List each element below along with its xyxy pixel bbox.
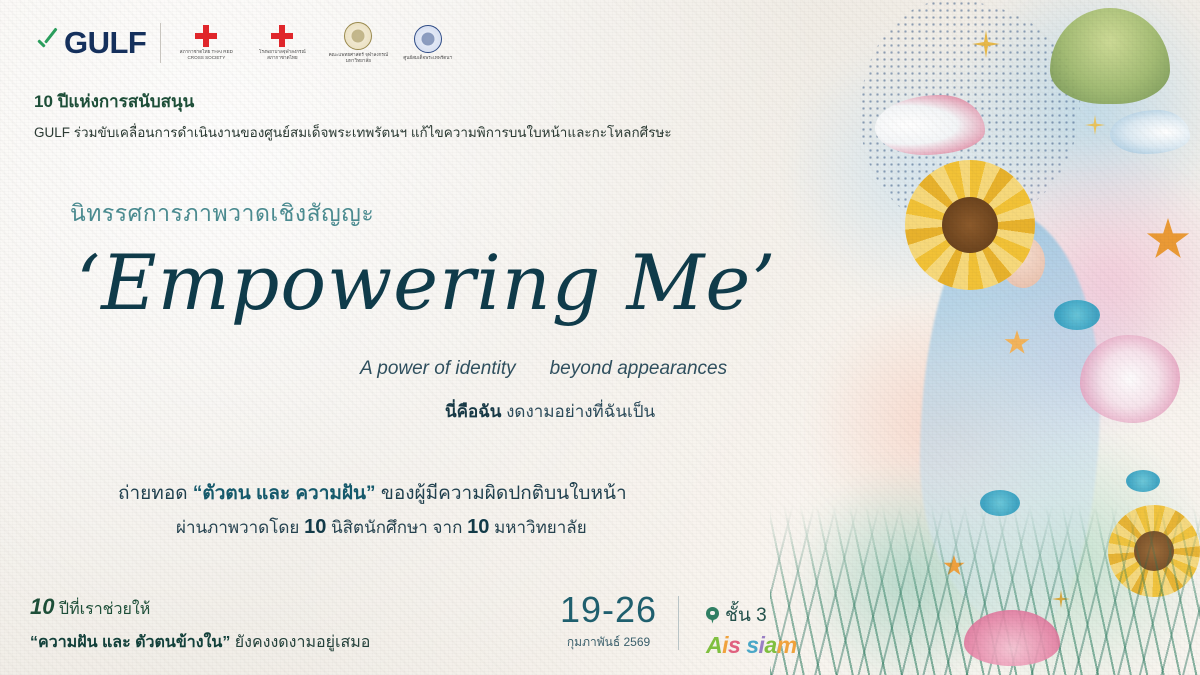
gulf-logo: GULF (34, 27, 146, 58)
event-date-block: 19-26 กุมภาพันธ์ 2569 (560, 592, 657, 652)
exhibition-label: นิทรรศการภาพวาดเชิงสัญญะ (70, 196, 374, 232)
header-block: 10 ปีแห่งการสนับสนุน GULF ร่วมขับเคลื่อน… (34, 88, 672, 143)
location-pin-icon (706, 607, 719, 624)
venue-letter: A (706, 632, 722, 658)
desc1-post: ของผู้มีความผิดปกติบนใบหน้า (376, 483, 627, 504)
footer-quote: “ความฝัน และ ตัวตนข้างใน” (30, 634, 230, 651)
partner-logo-princess-center: ศูนย์สมเด็จพระเทพรัตนฯ (403, 25, 452, 61)
venue-floor-row: ชั้น 3 (706, 600, 797, 630)
venue-letter: s (746, 632, 758, 658)
partner-caption: คณะแพทยศาสตร์ จุฬาลงกรณ์มหาวิทยาลัย (327, 52, 389, 63)
partner-logo-faculty-of-medicine: คณะแพทยศาสตร์ จุฬาลงกรณ์มหาวิทยาลัย (327, 22, 389, 63)
venue-letter: m (777, 632, 797, 658)
subtitle-th-rest: งดงามอย่างที่ฉันเป็น (501, 402, 655, 421)
partner-caption: ศูนย์สมเด็จพระเทพรัตนฯ (403, 55, 452, 61)
poster-canvas: GULF สภากาชาดไทย THAI RED CROSS SOCIETY … (0, 0, 1200, 675)
event-date-range: 19-26 (560, 592, 657, 628)
footer-line-1-text: ปีที่เราช่วยให้ (54, 601, 150, 618)
venue-name: Ais siam (706, 632, 797, 659)
desc1-quote: “ตัวตน และ ความฝัน” (193, 483, 376, 504)
event-venue-block: ชั้น 3 Ais siam (706, 600, 797, 659)
footer-divider (678, 596, 679, 650)
gulf-wordmark: GULF (64, 27, 146, 58)
desc2-mid: นิสิตนักศึกษา จาก (326, 518, 467, 537)
logo-row: GULF สภากาชาดไทย THAI RED CROSS SOCIETY … (34, 22, 452, 63)
subtitle-th-bold: นี่คือฉัน (445, 402, 501, 421)
blue-seal-icon (414, 25, 442, 53)
venue-floor-label: ชั้น 3 (725, 600, 767, 630)
desc2-student-count: 10 (304, 516, 326, 538)
desc1-pre: ถ่ายทอด (118, 483, 193, 504)
venue-letter: a (764, 632, 776, 658)
logo-divider (160, 23, 161, 63)
partner-logo-thai-red-cross: สภากาชาดไทย THAI RED CROSS SOCIETY (175, 25, 237, 60)
red-cross-icon (195, 25, 217, 47)
subtitle-english: A power of identitybeyond appearances (360, 358, 727, 380)
subtitle-en-left: A power of identity (360, 358, 516, 379)
desc2-university-count: 10 (467, 516, 489, 538)
partner-caption: สภากาชาดไทย THAI RED CROSS SOCIETY (175, 49, 237, 60)
support-description-line: GULF ร่วมขับเคลื่อนการดำเนินงานของศูนย์ส… (34, 121, 672, 143)
subtitle-en-right: beyond appearances (550, 358, 727, 379)
red-cross-icon (271, 25, 293, 47)
desc2-post: มหาวิทยาลัย (489, 518, 586, 537)
venue-letter: s (728, 632, 740, 658)
desc2-pre: ผ่านภาพวาดโดย (176, 518, 304, 537)
footer-line-2: “ความฝัน และ ตัวตนข้างใน” ยังคงงดงามอยู่… (30, 630, 370, 655)
footer-years-number: 10 (30, 594, 54, 619)
description-line-2: ผ่านภาพวาดโดย 10 นิสิตนักศึกษา จาก 10 มห… (176, 514, 587, 541)
partner-caption: โรงพยาบาลจุฬาลงกรณ์ สภากาชาดไทย (251, 49, 313, 60)
gold-seal-icon (344, 22, 372, 50)
description-line-1: ถ่ายทอด “ตัวตน และ ความฝัน” ของผู้มีความ… (118, 478, 627, 508)
years-of-support-line: 10 ปีแห่งการสนับสนุน (34, 88, 672, 115)
poster-content: GULF สภากาชาดไทย THAI RED CROSS SOCIETY … (0, 0, 1200, 675)
footer-line-1: 10 ปีที่เราช่วยให้ (30, 594, 370, 622)
subtitle-thai: นี่คือฉัน งดงามอย่างที่ฉันเป็น (445, 398, 655, 425)
page-title: ‘Empowering Me’ (76, 238, 776, 327)
footer-left-block: 10 ปีที่เราช่วยให้ “ความฝัน และ ตัวตนข้า… (30, 594, 370, 655)
event-month-year: กุมภาพันธ์ 2569 (560, 633, 657, 652)
footer-line-2-text: ยังคงงดงามอยู่เสมอ (230, 634, 370, 651)
gulf-check-icon (34, 30, 60, 56)
pin-center-dot (710, 611, 714, 615)
partner-logo-chulalongkorn-hospital: โรงพยาบาลจุฬาลงกรณ์ สภากาชาดไทย (251, 25, 313, 60)
